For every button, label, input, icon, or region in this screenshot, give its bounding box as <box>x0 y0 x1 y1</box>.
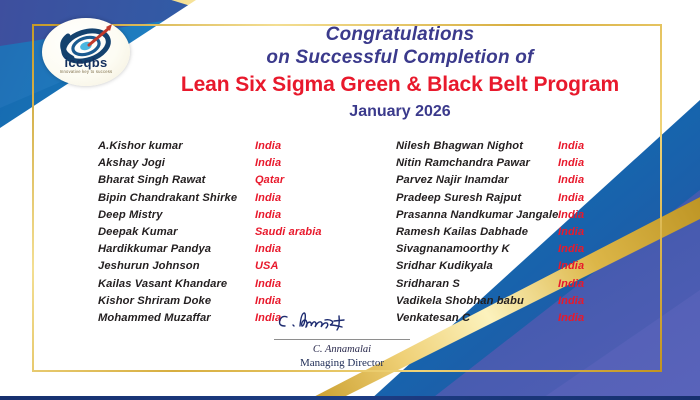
signature-rule <box>274 339 410 340</box>
participant-name: Mohammed Muzaffar <box>98 312 255 324</box>
participant-name: Sivagnanamoorthy K <box>396 243 558 255</box>
participant-country: India <box>255 157 328 169</box>
participant-name: Vadikela Shobhan babu <box>396 295 558 307</box>
participant-country: India <box>558 243 611 255</box>
participant-country: India <box>255 295 328 307</box>
participant-row: Sivagnanamoorthy KIndia <box>396 243 611 260</box>
completion-subtitle: on Successful Completion of <box>150 46 650 69</box>
participant-country: USA <box>255 260 328 272</box>
signatory-title: Managing Director <box>272 356 412 370</box>
participant-country: India <box>255 192 328 204</box>
participant-row: Vadikela Shobhan babuIndia <box>396 295 611 312</box>
participant-row: Bharat Singh RawatQatar <box>98 174 328 191</box>
participant-row: Sridhar KudikyalaIndia <box>396 260 611 277</box>
participant-name: Kishor Shriram Doke <box>98 295 255 307</box>
participant-row: Parvez Najir InamdarIndia <box>396 174 611 191</box>
participant-name: Nitin Ramchandra Pawar <box>396 157 558 169</box>
iceqbs-logo: iceqbs Innovative key to success <box>42 18 130 86</box>
participant-row: Sridharan SIndia <box>396 278 611 295</box>
participant-name: Nilesh Bhagwan Nighot <box>396 140 558 152</box>
participant-list-right: Nilesh Bhagwan NighotIndiaNitin Ramchand… <box>396 140 611 329</box>
participant-name: Parvez Najir Inamdar <box>396 174 558 186</box>
participant-name: Sridharan S <box>396 278 558 290</box>
participant-name: Deepak Kumar <box>98 226 255 238</box>
program-title: Lean Six Sigma Green & Black Belt Progra… <box>150 71 650 99</box>
participant-country: India <box>558 209 611 221</box>
participant-country: India <box>558 174 611 186</box>
participant-country: India <box>558 260 611 272</box>
participant-country: India <box>255 278 328 290</box>
participant-country: India <box>255 243 328 255</box>
participant-row: Ramesh Kailas DabhadeIndia <box>396 226 611 243</box>
participant-name: A.Kishor kumar <box>98 140 255 152</box>
participant-row: Prasanna Nandkumar JangaleIndia <box>396 209 611 226</box>
participant-row: Deepak KumarSaudi arabia <box>98 226 328 243</box>
signature-mark <box>277 308 407 334</box>
participant-row: Deep MistryIndia <box>98 209 328 226</box>
certificate-headings: Congratulations on Successful Completion… <box>150 24 650 123</box>
participant-country: India <box>558 226 611 238</box>
participant-name: Ramesh Kailas Dabhade <box>396 226 558 238</box>
participant-name: Deep Mistry <box>98 209 255 221</box>
participant-row: Pradeep Suresh RajputIndia <box>396 192 611 209</box>
participant-row: Nilesh Bhagwan NighotIndia <box>396 140 611 157</box>
participant-country: Qatar <box>255 174 328 186</box>
participant-name: Prasanna Nandkumar Jangale <box>396 209 558 221</box>
participant-row: Hardikkumar PandyaIndia <box>98 243 328 260</box>
participant-country: India <box>558 295 611 307</box>
participant-row: Bipin Chandrakant ShirkeIndia <box>98 192 328 209</box>
participant-name: Kailas Vasant Khandare <box>98 278 255 290</box>
participant-row: Nitin Ramchandra PawarIndia <box>396 157 611 174</box>
program-month: January 2026 <box>150 101 650 123</box>
participant-row: Jeshurun JohnsonUSA <box>98 260 328 277</box>
participant-country: India <box>558 192 611 204</box>
logo-wordmark: iceqbs <box>42 55 130 70</box>
participant-country: India <box>558 278 611 290</box>
participant-row: A.Kishor kumarIndia <box>98 140 328 157</box>
participant-country: India <box>558 157 611 169</box>
signature-block: C. Annamalai Managing Director <box>272 308 412 370</box>
logo-tagline: Innovative key to success <box>42 69 130 74</box>
participant-country: India <box>255 140 328 152</box>
participant-country: India <box>558 312 611 324</box>
participant-country: India <box>558 140 611 152</box>
participant-name: Hardikkumar Pandya <box>98 243 255 255</box>
participant-name: Bharat Singh Rawat <box>98 174 255 186</box>
participant-name: Pradeep Suresh Rajput <box>396 192 558 204</box>
participant-row: Akshay JogiIndia <box>98 157 328 174</box>
signatory-name: C. Annamalai <box>272 343 412 356</box>
participant-name: Sridhar Kudikyala <box>396 260 558 272</box>
participant-name: Jeshurun Johnson <box>98 260 255 272</box>
participant-row: Kailas Vasant KhandareIndia <box>98 278 328 295</box>
congratulations-heading: Congratulations <box>150 24 650 46</box>
participant-name: Bipin Chandrakant Shirke <box>98 192 255 204</box>
participant-list-left: A.Kishor kumarIndiaAkshay JogiIndiaBhara… <box>98 140 328 329</box>
bottom-navy-strip <box>0 396 700 400</box>
certificate: iceqbs Innovative key to success Congrat… <box>0 0 700 400</box>
participant-country: Saudi arabia <box>255 226 328 238</box>
participant-row: Venkatesan CIndia <box>396 312 611 329</box>
target-dart-icon <box>42 18 130 86</box>
participant-name: Venkatesan C <box>396 312 558 324</box>
participant-name: Akshay Jogi <box>98 157 255 169</box>
participant-country: India <box>255 209 328 221</box>
